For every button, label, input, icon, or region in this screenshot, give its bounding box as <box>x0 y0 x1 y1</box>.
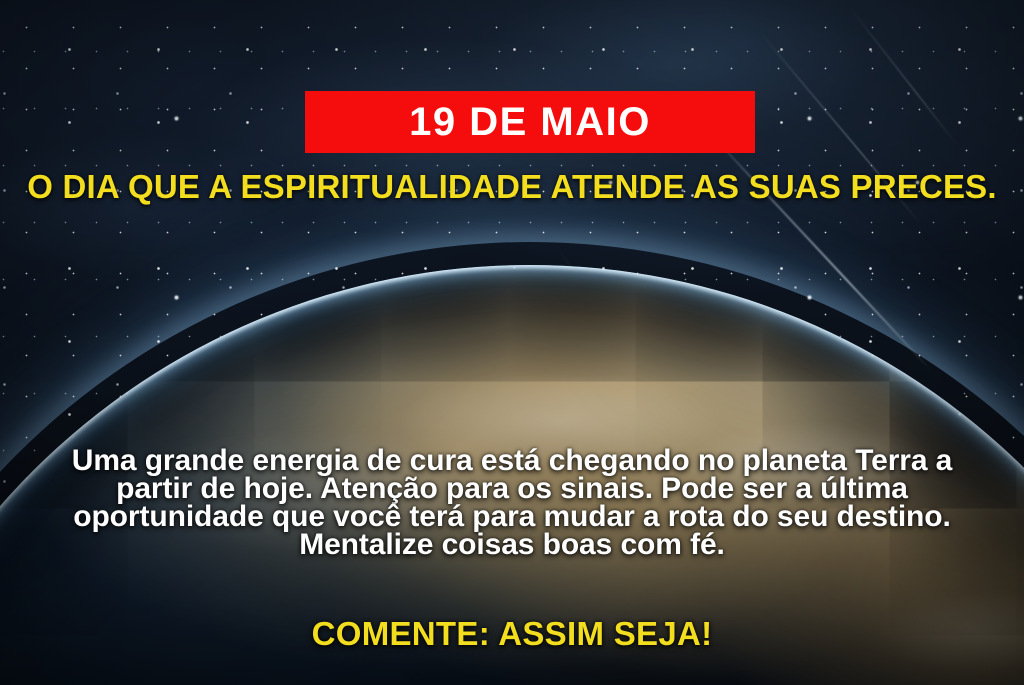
call-to-action-text: COMENTE: ASSIM SEJA! <box>0 615 1024 653</box>
date-banner-label: 19 DE MAIO <box>409 102 651 142</box>
body-paragraph: Uma grande energia de cura está chegando… <box>0 447 1024 559</box>
date-banner: 19 DE MAIO <box>305 91 755 153</box>
poster-content: 19 DE MAIO O DIA QUE A ESPIRITUALIDADE A… <box>0 0 1024 685</box>
headline-text: O DIA QUE A ESPIRITUALIDADE ATENDE AS SU… <box>0 168 1024 206</box>
social-media-poster: 19 DE MAIO O DIA QUE A ESPIRITUALIDADE A… <box>0 0 1024 685</box>
